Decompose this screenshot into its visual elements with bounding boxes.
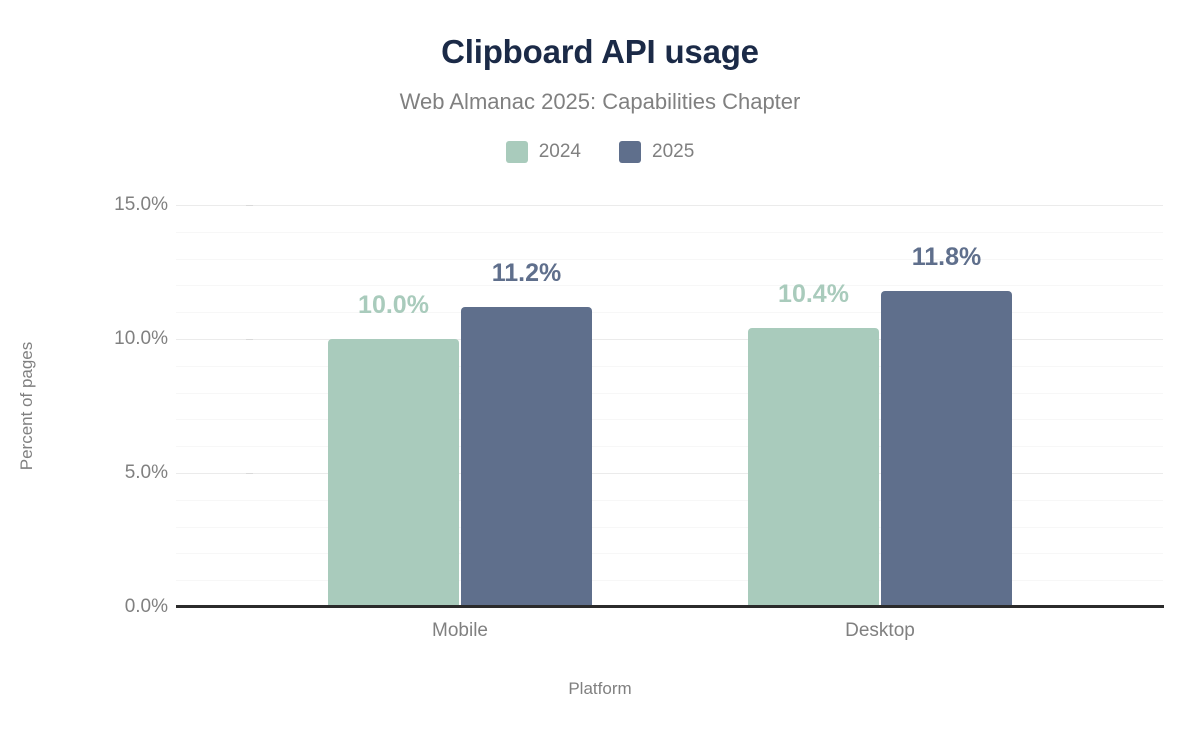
y-tick-label: 15.0% <box>88 194 168 216</box>
bar-desktop-2025[interactable] <box>881 291 1012 607</box>
legend-item-2024[interactable]: 2024 <box>506 141 581 163</box>
legend-item-2025[interactable]: 2025 <box>619 141 694 163</box>
y-axis-title: Percent of pages <box>17 342 37 471</box>
legend-label-2025: 2025 <box>652 141 694 163</box>
y-axis-ticks: 0.0%5.0%10.0%15.0% <box>78 0 168 742</box>
gridline <box>176 205 1163 206</box>
chart-subtitle: Web Almanac 2025: Capabilities Chapter <box>0 89 1200 115</box>
bar-mobile-2025[interactable] <box>461 307 592 607</box>
legend-swatch-2025 <box>619 141 641 163</box>
y-tick-mark <box>246 473 253 474</box>
plot-area: 10.0%11.2%10.4%11.8% <box>176 205 1163 607</box>
x-tick-label-mobile: Mobile <box>432 620 488 642</box>
gridline <box>176 339 1163 340</box>
gridline <box>176 527 1163 528</box>
gridline <box>176 312 1163 313</box>
gridline <box>176 553 1163 554</box>
gridline <box>176 446 1163 447</box>
gridline <box>176 580 1163 581</box>
gridline <box>176 419 1163 420</box>
bar-desktop-2024[interactable] <box>748 328 879 607</box>
gridline <box>176 259 1163 260</box>
bar-value-label-mobile-2024: 10.0% <box>358 291 429 320</box>
x-axis-title: Platform <box>0 679 1200 699</box>
gridline <box>176 285 1163 286</box>
y-tick-label: 10.0% <box>88 328 168 350</box>
bar-value-label-mobile-2025: 11.2% <box>492 259 562 288</box>
bar-value-label-desktop-2024: 10.4% <box>778 280 849 309</box>
y-tick-mark <box>246 339 253 340</box>
x-axis-line <box>176 605 1164 608</box>
chart-legend: 2024 2025 <box>0 141 1200 163</box>
bar-mobile-2024[interactable] <box>328 339 459 607</box>
y-tick-label: 5.0% <box>88 462 168 484</box>
gridline <box>176 393 1163 394</box>
gridline <box>176 366 1163 367</box>
y-tick-label: 0.0% <box>88 596 168 618</box>
legend-swatch-2024 <box>506 141 528 163</box>
y-tick-mark <box>246 205 253 206</box>
gridline <box>176 500 1163 501</box>
x-tick-label-desktop: Desktop <box>845 620 915 642</box>
gridline <box>176 232 1163 233</box>
gridline <box>176 473 1163 474</box>
chart-title: Clipboard API usage <box>0 33 1200 71</box>
legend-label-2024: 2024 <box>539 141 581 163</box>
bar-value-label-desktop-2025: 11.8% <box>912 243 982 272</box>
